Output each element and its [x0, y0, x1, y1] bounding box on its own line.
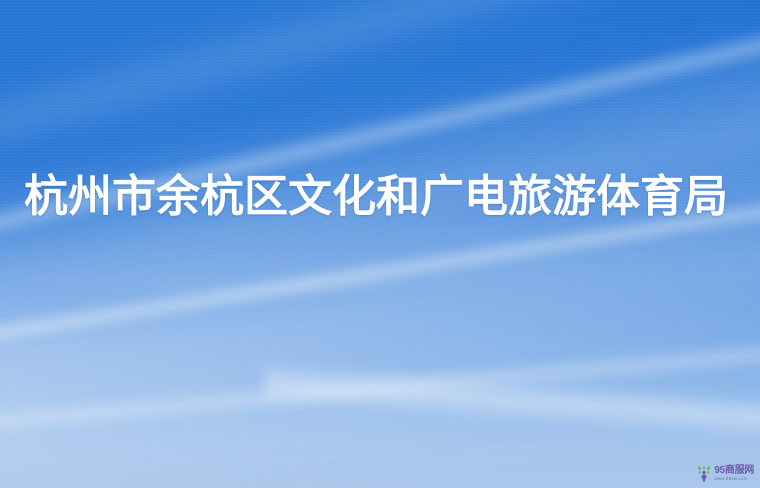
watermark-site-name: 95商服网: [714, 466, 754, 476]
banner-title: 杭州市余杭区文化和广电旅游体育局: [24, 170, 744, 224]
watermark-site-url: www.95sw.com: [714, 477, 754, 482]
background-wave-right-ribbon: [263, 361, 760, 453]
watermark-text-block: 95商服网 www.95sw.com: [714, 466, 754, 482]
background-wave-top-streak: [0, 0, 760, 197]
background-arc-highlight: [0, 0, 760, 293]
watermark: 95商服网 www.95sw.com: [696, 465, 754, 482]
background-wave-main: [0, 0, 760, 488]
background-wave-streak-c: [0, 327, 760, 449]
background-wave-streak-a: [0, 0, 760, 272]
leaf-person-logo-icon: [696, 465, 712, 482]
background-scanline-texture: [0, 0, 760, 488]
government-banner-image: 杭州市余杭区文化和广电旅游体育局 95商服网 www.95sw.com: [0, 0, 760, 488]
